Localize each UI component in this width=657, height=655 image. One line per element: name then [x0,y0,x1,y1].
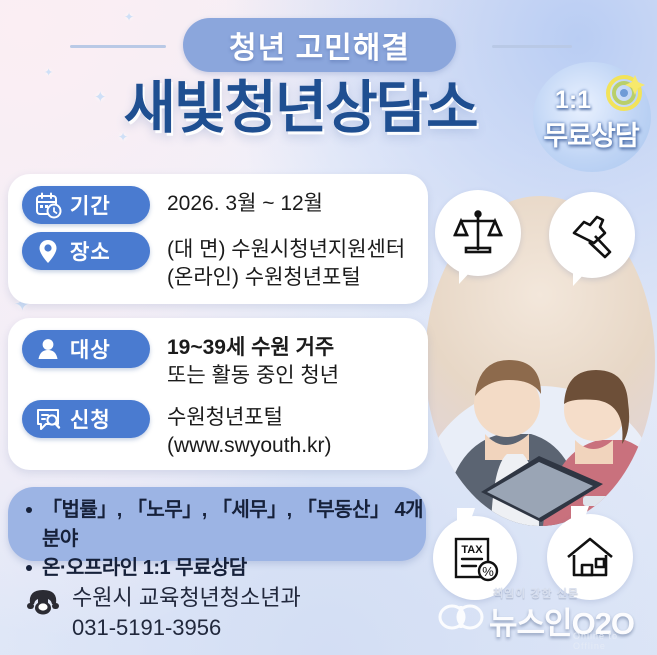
person-icon [35,336,62,363]
info-value-apply: 수원청년포털 (www.swyouth.kr) [167,400,332,461]
list-item: 온·오프라인 1:1 무료상담 [26,554,426,583]
header-divider-right [492,45,572,48]
free-consult-badge: 1:1 무료상담 [533,62,651,172]
poster: ✦ ✦ ✦ ✦ ✦ ✦ ✦ ✦ ✦ 청년 고민해결 새빛청년상담소 1:1 무료… [0,0,657,655]
sparkle-icon: ✦ [44,66,53,79]
header-divider-left [70,45,166,48]
info-line: (온라인) 수원청년포털 [167,264,405,292]
header-pill-label: 청년 고민해결 [229,23,410,67]
info-line: 수원청년포털 [167,404,332,432]
news-watermark: 책임이 강한 신문 뉴스인O2O Online to Offline [433,583,649,647]
chip-period-label: 기간 [70,190,111,220]
sparkle-icon: ✦ [124,10,134,24]
info-row-target: 대상 19~39세 수원 거주 또는 활동 중인 청년 [22,330,339,391]
w-logo-icon [437,599,487,633]
info-value-target: 19~39세 수원 거주 또는 활동 중인 청년 [167,330,339,391]
svg-text:TAX: TAX [461,544,483,556]
page-title: 새빛청년상담소 [0,80,600,137]
document-search-icon [35,406,62,433]
info-card-eligibility: 대상 19~39세 수원 거주 또는 활동 중인 청년 신청 수원청년포털 [8,318,428,470]
tax-document-icon: % TAX [450,533,500,583]
contact-phone: 031-5191-3956 [72,613,301,643]
target-icon [602,70,646,114]
chip-apply: 신청 [22,400,150,438]
chip-apply-label: 신청 [70,404,111,434]
highlights-band: 「법률」, 「노무」, 「세무」, 「부동산」 4개 분야 온·오프라인 1:1… [8,487,426,561]
chip-period: 기간 [22,186,150,224]
info-line: 2026. 3월 ~ 12월 [167,190,323,218]
chip-place: 장소 [22,232,150,270]
chip-target-label: 대상 [70,334,111,364]
badge-ratio: 1:1 [541,86,605,115]
info-value-period: 2026. 3월 ~ 12월 [167,186,323,218]
info-line: 19~39세 수원 거주 [167,334,339,362]
header-pill: 청년 고민해결 [183,18,456,72]
hammer-icon [566,209,618,261]
house-icon [564,531,616,583]
field-bubble-law [435,190,521,276]
info-line: 또는 활동 중인 청년 [167,362,339,390]
info-value-place: (대 면) 수원시청년지원센터 (온라인) 수원청년포털 [167,232,405,293]
info-line: (www.swyouth.kr) [167,432,332,460]
telephone-icon [26,586,60,616]
watermark-name-kr: 뉴스인 [489,606,572,641]
list-item: 「법률」, 「노무」, 「세무」, 「부동산」 4개 분야 [26,496,426,554]
chip-place-label: 장소 [70,236,111,266]
calendar-clock-icon [35,192,62,219]
badge-text: 무료상담 [525,114,657,153]
chip-target: 대상 [22,330,150,368]
contact-footer: 수원시 교육청년청소년과 031-5191-3956 [26,583,301,642]
field-bubble-labor [549,192,635,278]
watermark-subtitle: Online to Offline [573,631,649,651]
map-pin-icon [35,238,62,265]
info-row-period: 기간 2026. 3월 ~ 12월 [22,186,323,224]
info-line: (대 면) 수원시청년지원센터 [167,236,405,264]
contact-department: 수원시 교육청년청소년과 [72,583,301,613]
svg-text:%: % [482,564,494,579]
info-card-schedule: 기간 2026. 3월 ~ 12월 장소 (대 면) 수원시청년지원센터 (온라… [8,174,428,304]
scales-of-justice-icon [452,207,504,259]
info-row-apply: 신청 수원청년포털 (www.swyouth.kr) [22,400,332,461]
info-row-place: 장소 (대 면) 수원시청년지원센터 (온라인) 수원청년포털 [22,232,405,293]
